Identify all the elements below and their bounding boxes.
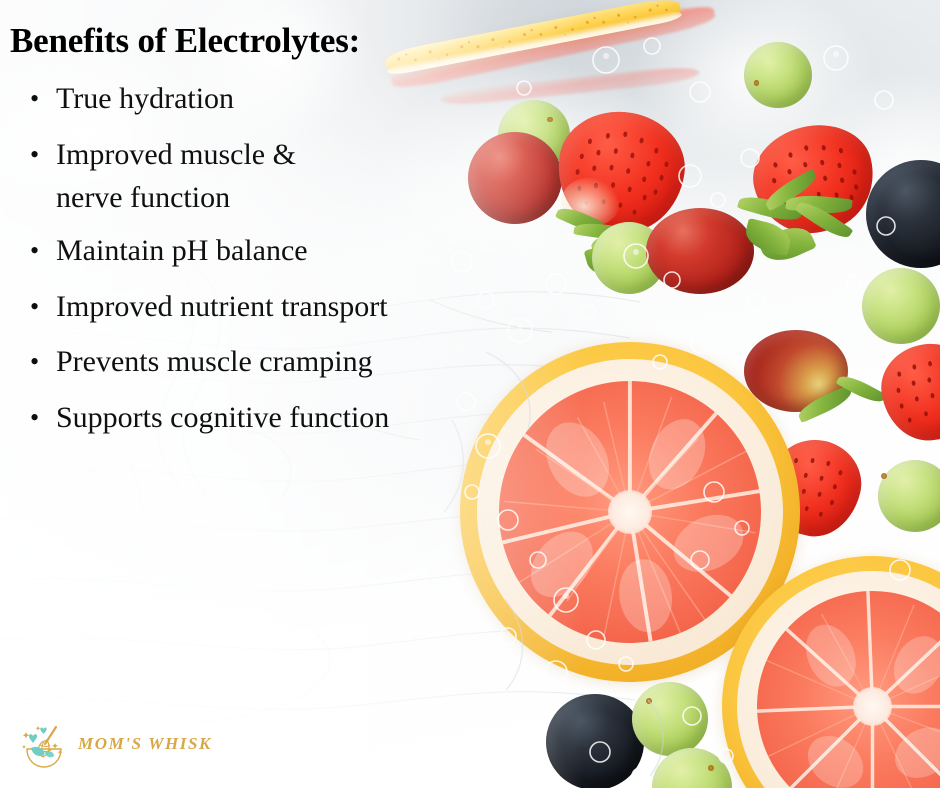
list-item-label: Maintain pH balance — [56, 236, 590, 267]
list-item: • True hydration — [30, 84, 590, 115]
bullet-icon: • — [30, 403, 56, 434]
list-item-label: Prevents muscle cramping — [56, 347, 590, 378]
page-title: Benefits of Electrolytes: — [10, 21, 360, 61]
bullet-icon: • — [30, 84, 56, 115]
list-item-label: True hydration — [56, 84, 590, 115]
list-item: • Supports cognitive function — [30, 403, 590, 434]
list-item: • Improved nutrient transport — [30, 292, 590, 323]
list-item-line-2: nerve function — [56, 183, 590, 214]
bullet-icon: • — [30, 140, 56, 171]
list-item-label: Supports cognitive function — [56, 403, 590, 434]
list-item-line-1: Improved muscle & — [56, 138, 296, 171]
brand-name: MOM'S WHISK — [78, 734, 212, 754]
bullet-icon: • — [30, 292, 56, 323]
whisk-bowl-hearts-icon — [18, 718, 70, 770]
list-item-label: Improved muscle & nerve function — [56, 140, 590, 214]
bullet-icon: • — [30, 236, 56, 267]
bullet-icon: • — [30, 347, 56, 378]
slide-canvas: Benefits of Electrolytes: • True hydrati… — [0, 0, 940, 788]
list-item: • Maintain pH balance — [30, 236, 590, 267]
slide-content: Benefits of Electrolytes: • True hydrati… — [0, 0, 940, 788]
brand-logo: MOM'S WHISK — [18, 718, 212, 770]
benefits-list: • True hydration • Improved muscle & ner… — [30, 84, 590, 434]
list-item: • Prevents muscle cramping — [30, 347, 590, 378]
list-item-label: Improved nutrient transport — [56, 292, 590, 323]
list-item: • Improved muscle & nerve function — [30, 140, 590, 214]
